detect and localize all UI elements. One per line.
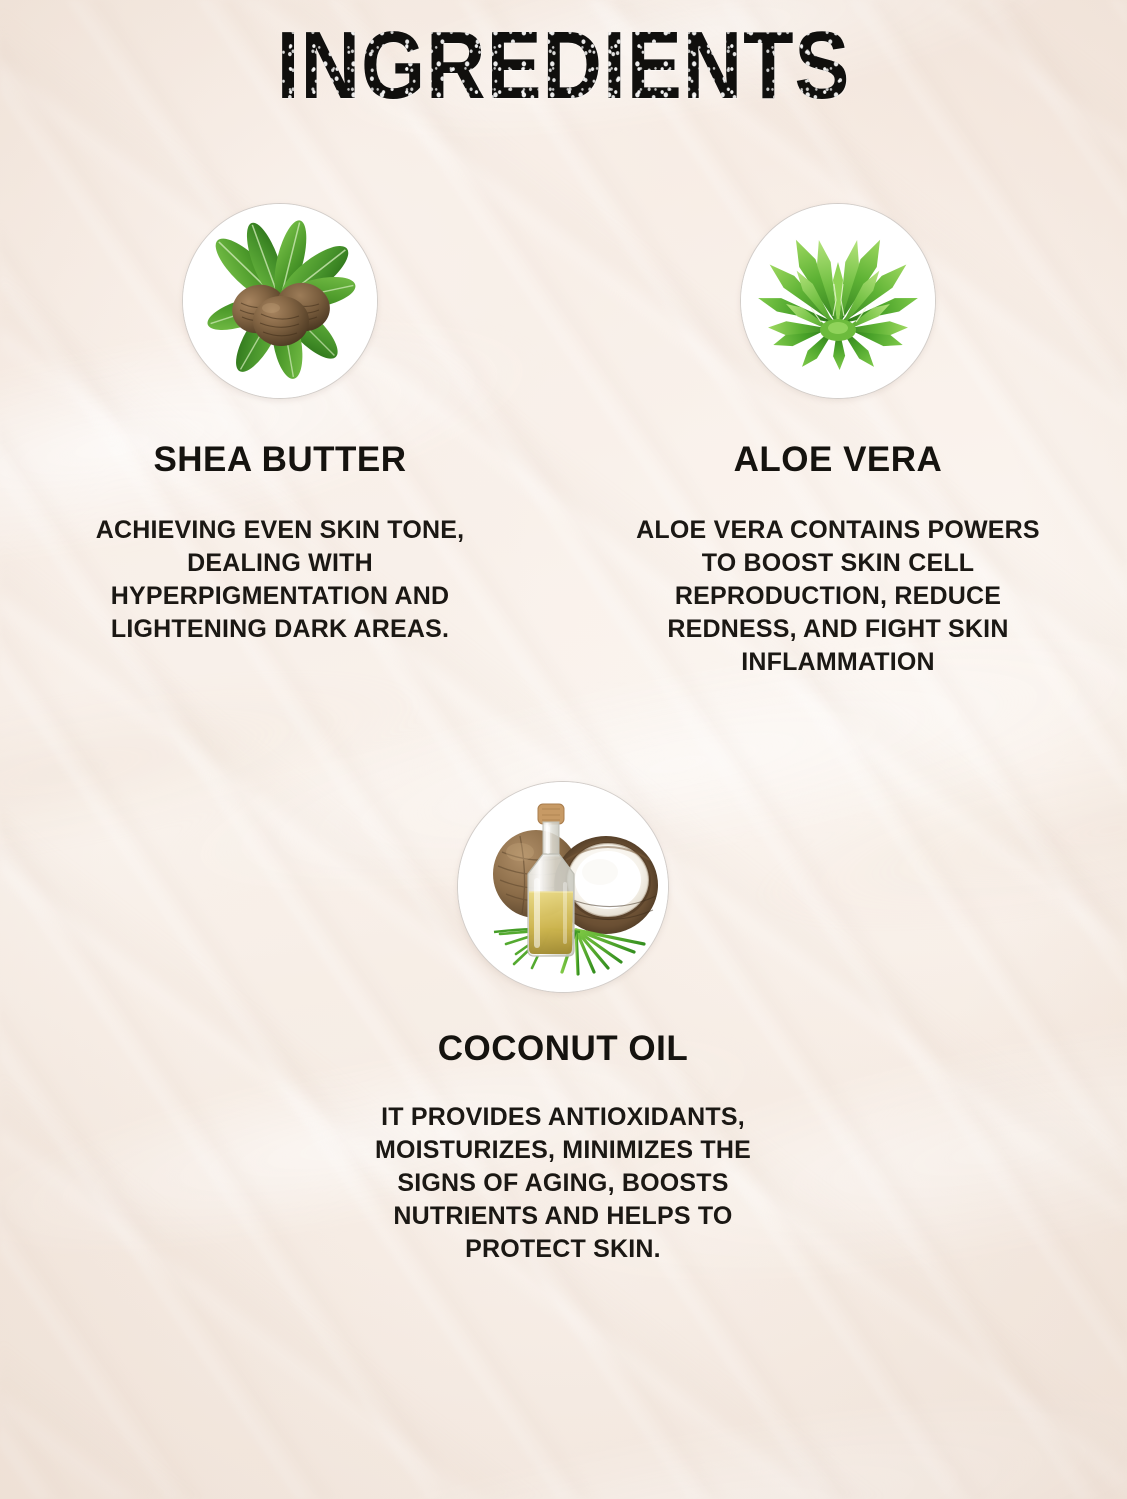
ingredient-title-coconut-oil: COCONUT OIL <box>331 1029 795 1069</box>
ingredient-description-shea-butter: ACHIEVING EVEN SKIN TONE, DEALING WITH H… <box>48 514 512 646</box>
ingredient-card-coconut-oil: COCONUT OIL IT PROVIDES ANTIOXIDANTS, MO… <box>331 781 795 1266</box>
ingredient-description-coconut-oil: IT PROVIDES ANTIOXIDANTS, MOISTURIZES, M… <box>331 1101 795 1266</box>
shea-nuts-icon <box>183 204 377 398</box>
ingredient-card-aloe-vera: ALOE VERA ALOE VERA CONTAINS POWERS TO B… <box>606 203 1070 679</box>
page-title: INGREDIENTS INGREDIENTS <box>0 0 1127 130</box>
aloe-plant-icon <box>741 204 935 398</box>
shea-butter-image-circle <box>182 203 378 399</box>
aloe-vera-image-circle <box>740 203 936 399</box>
ingredient-title-shea-butter: SHEA BUTTER <box>48 440 512 480</box>
coconut-oil-image-circle <box>457 781 669 993</box>
ingredient-card-shea-butter: SHEA BUTTER ACHIEVING EVEN SKIN TONE, DE… <box>48 203 512 646</box>
page-title-text: INGREDIENTS <box>79 18 1048 114</box>
ingredient-title-aloe-vera: ALOE VERA <box>606 440 1070 480</box>
ingredient-description-aloe-vera: ALOE VERA CONTAINS POWERS TO BOOST SKIN … <box>606 514 1070 679</box>
coconut-oil-bottle-icon <box>458 782 668 992</box>
ingredients-poster: INGREDIENTS INGREDIENTS <box>0 0 1127 1499</box>
